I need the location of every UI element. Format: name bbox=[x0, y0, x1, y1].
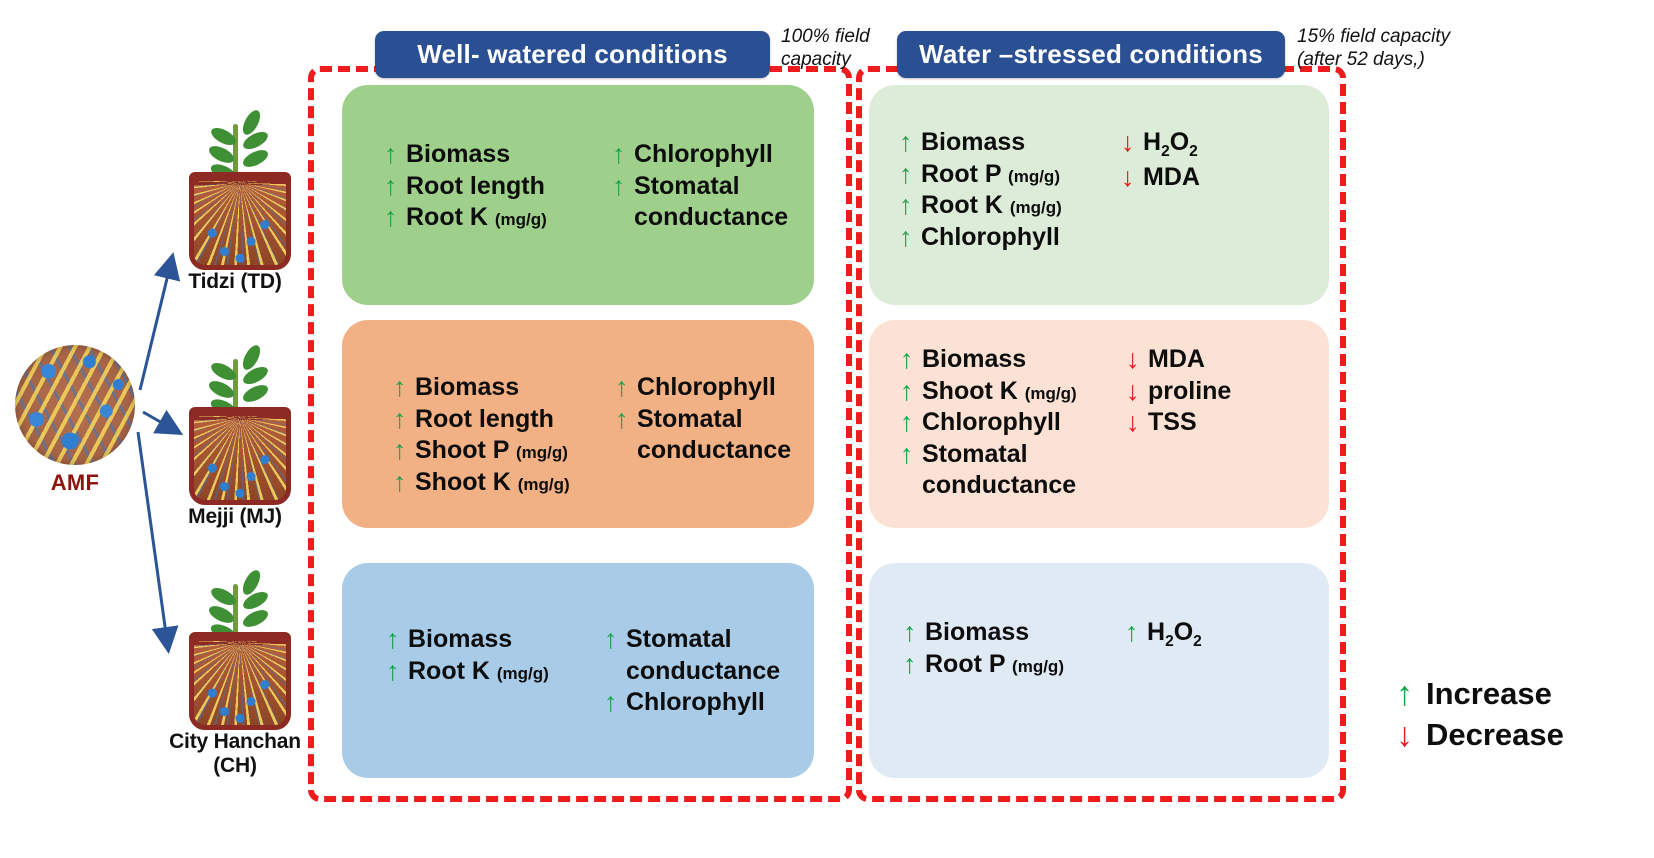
legend: ↑ Increase ↓ Decrease bbox=[1396, 675, 1564, 757]
arrow-down-icon: ↓ bbox=[1121, 163, 1143, 192]
infographic-canvas: AMF Tidzi (TD) Mejji (MJ) bbox=[0, 0, 1654, 858]
metric-label: Root length bbox=[406, 172, 545, 202]
metric-label: Root K (mg/g) bbox=[406, 203, 547, 233]
metric-label: H2O2 bbox=[1147, 618, 1202, 651]
card-tr-content: ↑Biomass↑Root P (mg/g)↑Root K (mg/g)↑Chl… bbox=[899, 128, 1200, 254]
arrow-up-icon: ↑ bbox=[612, 172, 634, 201]
metric-label: Stomatal bbox=[626, 625, 732, 655]
legend-label-decrease: Decrease bbox=[1426, 718, 1564, 753]
card-br-content: ↑Biomass↑Root P (mg/g)↑H2O2 bbox=[903, 618, 1202, 681]
metric-label: Chlorophyll bbox=[922, 408, 1061, 438]
metric-label: Stomatal bbox=[922, 440, 1028, 470]
metric-label: Biomass bbox=[415, 373, 519, 403]
metric-item: ↑Biomass bbox=[393, 373, 615, 403]
metric-label: Biomass bbox=[922, 345, 1026, 375]
metric-column-2: ↑Stomatalconductance↑Chlorophyll bbox=[604, 625, 780, 720]
metric-item: conductance bbox=[612, 203, 788, 233]
metric-unit: (mg/g) bbox=[1010, 198, 1062, 217]
leaf-icon bbox=[241, 147, 271, 171]
metric-column-2: ↑Chlorophyll↑Stomatalconductance bbox=[612, 140, 788, 235]
metric-label: Biomass bbox=[406, 140, 510, 170]
metric-label: proline bbox=[1148, 377, 1231, 407]
metric-label: H2O2 bbox=[1143, 128, 1198, 161]
metric-item: ↑Root K (mg/g) bbox=[386, 657, 604, 687]
metric-item: ↑Biomass bbox=[384, 140, 612, 170]
arrow-up-icon: ↑ bbox=[386, 625, 408, 654]
metric-label: Chlorophyll bbox=[626, 688, 765, 718]
cultivar-mejji: Mejji (MJ) bbox=[160, 345, 310, 530]
arrow-up-icon: ↑ bbox=[604, 688, 626, 717]
header-water-stressed: Water –stressed conditions bbox=[897, 31, 1285, 78]
metric-item: ↓MDA bbox=[1126, 345, 1231, 375]
metric-item: ↑Stomatal bbox=[900, 440, 1126, 470]
arrow-up-icon: ↑ bbox=[384, 140, 406, 169]
arrow-up-icon: ↑ bbox=[900, 408, 922, 437]
arrow-up-icon: ↑ bbox=[900, 377, 922, 406]
metric-label: MDA bbox=[1143, 163, 1200, 193]
metric-item: ↓H2O2 bbox=[1121, 128, 1200, 161]
metric-label: Shoot P (mg/g) bbox=[415, 436, 568, 466]
metric-item: ↑Shoot K (mg/g) bbox=[393, 468, 615, 498]
metric-column-1: ↑Biomass↑Shoot K (mg/g)↑Chlorophyll↑Stom… bbox=[900, 345, 1126, 503]
metric-column-2: ↓MDA↓proline↓TSS bbox=[1126, 345, 1231, 503]
metric-column-1: ↑Biomass↑Root length↑Root K (mg/g) bbox=[384, 140, 612, 235]
metric-column-2: ↑H2O2 bbox=[1125, 618, 1202, 681]
metric-unit: (mg/g) bbox=[1008, 167, 1060, 186]
arrow-up-icon: ↑ bbox=[900, 345, 922, 374]
metric-item: ↑Stomatal bbox=[604, 625, 780, 655]
arrow-up-icon: ↑ bbox=[899, 128, 921, 157]
plant-illustration bbox=[160, 345, 310, 530]
metric-label: Root K (mg/g) bbox=[921, 191, 1062, 221]
metric-item: ↑Root K (mg/g) bbox=[384, 203, 612, 233]
pot-icon bbox=[189, 172, 291, 270]
metric-item: ↑Shoot K (mg/g) bbox=[900, 377, 1126, 407]
metric-label: TSS bbox=[1148, 408, 1197, 438]
amf-source: AMF bbox=[10, 345, 145, 495]
plant-illustration bbox=[160, 570, 310, 755]
card-tl-content: ↑Biomass↑Root length↑Root K (mg/g)↑Chlor… bbox=[384, 140, 788, 235]
amf-spore-circle-icon bbox=[15, 345, 135, 465]
metric-item: ↑Root P (mg/g) bbox=[903, 650, 1125, 680]
metric-item: ↑Biomass bbox=[900, 345, 1126, 375]
metric-item: ↓TSS bbox=[1126, 408, 1231, 438]
metric-label: conductance bbox=[922, 471, 1076, 501]
metric-unit: (mg/g) bbox=[1012, 657, 1064, 676]
pot-icon bbox=[189, 632, 291, 730]
arrow-up-icon: ↑ bbox=[393, 436, 415, 465]
arrow-up-icon: ↑ bbox=[386, 657, 408, 686]
arrow-down-icon: ↓ bbox=[1126, 408, 1148, 437]
metric-label: Chlorophyll bbox=[637, 373, 776, 403]
metric-label: conductance bbox=[637, 436, 791, 466]
cultivar-label: Tidzi (TD) bbox=[160, 270, 310, 294]
arrow-up-icon: ↑ bbox=[1396, 675, 1426, 713]
metric-item: ↑Root P (mg/g) bbox=[899, 160, 1121, 190]
metric-label: Shoot K (mg/g) bbox=[922, 377, 1077, 407]
note-right-field-capacity: 15% field capacity (after 52 days,) bbox=[1297, 25, 1487, 71]
metric-label: conductance bbox=[626, 657, 780, 687]
arrow-down-icon: ↓ bbox=[1126, 345, 1148, 374]
legend-item-decrease: ↓ Decrease bbox=[1396, 716, 1564, 754]
metric-item: ↑Biomass bbox=[386, 625, 604, 655]
arrow-down-icon: ↓ bbox=[1396, 716, 1426, 754]
metric-unit: (mg/g) bbox=[497, 664, 549, 683]
arrow-up-icon: ↑ bbox=[615, 405, 637, 434]
metric-item: ↑Stomatal bbox=[615, 405, 791, 435]
metric-item: ↑Root length bbox=[393, 405, 615, 435]
leaf-icon bbox=[207, 603, 237, 627]
arrow-up-icon: ↑ bbox=[615, 373, 637, 402]
arrow-up-icon: ↑ bbox=[604, 625, 626, 654]
legend-item-increase: ↑ Increase bbox=[1396, 675, 1564, 713]
metric-item: conductance bbox=[900, 471, 1126, 501]
metric-item: conductance bbox=[615, 436, 791, 466]
pot-icon bbox=[189, 407, 291, 505]
card-mr-content: ↑Biomass↑Shoot K (mg/g)↑Chlorophyll↑Stom… bbox=[900, 345, 1231, 503]
metric-column-1: ↑Biomass↑Root K (mg/g) bbox=[386, 625, 604, 720]
metric-label: Root P (mg/g) bbox=[925, 650, 1064, 680]
metric-column-1: ↑Biomass↑Root P (mg/g) bbox=[903, 618, 1125, 681]
metric-item: ↑Root length bbox=[384, 172, 612, 202]
metric-item: ↑H2O2 bbox=[1125, 618, 1202, 651]
leaf-icon bbox=[207, 143, 237, 167]
arrow-up-icon: ↑ bbox=[393, 468, 415, 497]
metric-item: ↑Biomass bbox=[899, 128, 1121, 158]
metric-label: Shoot K (mg/g) bbox=[415, 468, 570, 498]
arrow-up-icon: ↑ bbox=[899, 191, 921, 220]
root-network-icon bbox=[194, 181, 286, 265]
metric-item: ↑Chlorophyll bbox=[900, 408, 1126, 438]
arrow-up-icon: ↑ bbox=[900, 440, 922, 469]
cultivar-tidzi: Tidzi (TD) bbox=[160, 110, 310, 295]
cultivar-label: Mejji (MJ) bbox=[160, 505, 310, 529]
metric-label: MDA bbox=[1148, 345, 1205, 375]
cultivar-city-hanchan: City Hanchan (CH) bbox=[160, 570, 310, 755]
arrow-up-icon: ↑ bbox=[393, 373, 415, 402]
legend-label-increase: Increase bbox=[1426, 677, 1552, 712]
metric-item: ↑Chlorophyll bbox=[612, 140, 788, 170]
arrow-up-icon: ↑ bbox=[612, 140, 634, 169]
metric-label: Root P (mg/g) bbox=[921, 160, 1060, 190]
metric-column-2: ↑Chlorophyll↑Stomatalconductance bbox=[615, 373, 791, 499]
arrow-up-icon: ↑ bbox=[1125, 618, 1147, 647]
metric-unit: (mg/g) bbox=[516, 443, 568, 462]
cultivar-label: City Hanchan (CH) bbox=[160, 730, 310, 777]
arrow-up-icon: ↑ bbox=[384, 172, 406, 201]
metric-column-1: ↑Biomass↑Root length↑Shoot P (mg/g)↑Shoo… bbox=[393, 373, 615, 499]
arrow-up-icon: ↑ bbox=[903, 618, 925, 647]
metric-item: ↓proline bbox=[1126, 377, 1231, 407]
metric-label: conductance bbox=[634, 203, 788, 233]
amf-label: AMF bbox=[10, 470, 140, 496]
root-network-icon bbox=[194, 641, 286, 725]
metric-item: ↑Chlorophyll bbox=[899, 223, 1121, 253]
arrow-down-icon: ↓ bbox=[1126, 377, 1148, 406]
leaf-icon bbox=[207, 378, 237, 402]
metric-label: Biomass bbox=[408, 625, 512, 655]
card-ml-content: ↑Biomass↑Root length↑Shoot P (mg/g)↑Shoo… bbox=[393, 373, 791, 499]
metric-item: ↑Biomass bbox=[903, 618, 1125, 648]
note-left-field-capacity: 100% field capacity bbox=[781, 25, 886, 71]
metric-label: Root length bbox=[415, 405, 554, 435]
arrow-up-icon: ↑ bbox=[384, 203, 406, 232]
metric-label: Stomatal bbox=[637, 405, 743, 435]
metric-label: Biomass bbox=[925, 618, 1029, 648]
metric-item: conductance bbox=[604, 657, 780, 687]
metric-item: ↑Chlorophyll bbox=[604, 688, 780, 718]
root-network-icon bbox=[194, 416, 286, 500]
arrow-up-icon: ↑ bbox=[393, 405, 415, 434]
metric-label: Biomass bbox=[921, 128, 1025, 158]
leaf-icon bbox=[241, 607, 271, 631]
plant-illustration bbox=[160, 110, 310, 295]
metric-column-1: ↑Biomass↑Root P (mg/g)↑Root K (mg/g)↑Chl… bbox=[899, 128, 1121, 254]
metric-label: Chlorophyll bbox=[634, 140, 773, 170]
metric-unit: (mg/g) bbox=[1025, 384, 1077, 403]
arrow-down-icon: ↓ bbox=[1121, 128, 1143, 157]
metric-column-2: ↓H2O2↓MDA bbox=[1121, 128, 1200, 254]
metric-unit: (mg/g) bbox=[495, 210, 547, 229]
leaf-icon bbox=[241, 382, 271, 406]
arrow-up-icon: ↑ bbox=[899, 160, 921, 189]
card-bl-content: ↑Biomass↑Root K (mg/g)↑Stomatalconductan… bbox=[386, 625, 780, 720]
header-well-watered: Well- watered conditions bbox=[375, 31, 770, 78]
metric-item: ↑Shoot P (mg/g) bbox=[393, 436, 615, 466]
metric-label: Chlorophyll bbox=[921, 223, 1060, 253]
metric-label: Stomatal bbox=[634, 172, 740, 202]
metric-label: Root K (mg/g) bbox=[408, 657, 549, 687]
arrow-up-icon: ↑ bbox=[903, 650, 925, 679]
metric-unit: (mg/g) bbox=[518, 475, 570, 494]
arrow-up-icon: ↑ bbox=[899, 223, 921, 252]
metric-item: ↑Stomatal bbox=[612, 172, 788, 202]
metric-item: ↑Chlorophyll bbox=[615, 373, 791, 403]
metric-item: ↓MDA bbox=[1121, 163, 1200, 193]
metric-item: ↑Root K (mg/g) bbox=[899, 191, 1121, 221]
